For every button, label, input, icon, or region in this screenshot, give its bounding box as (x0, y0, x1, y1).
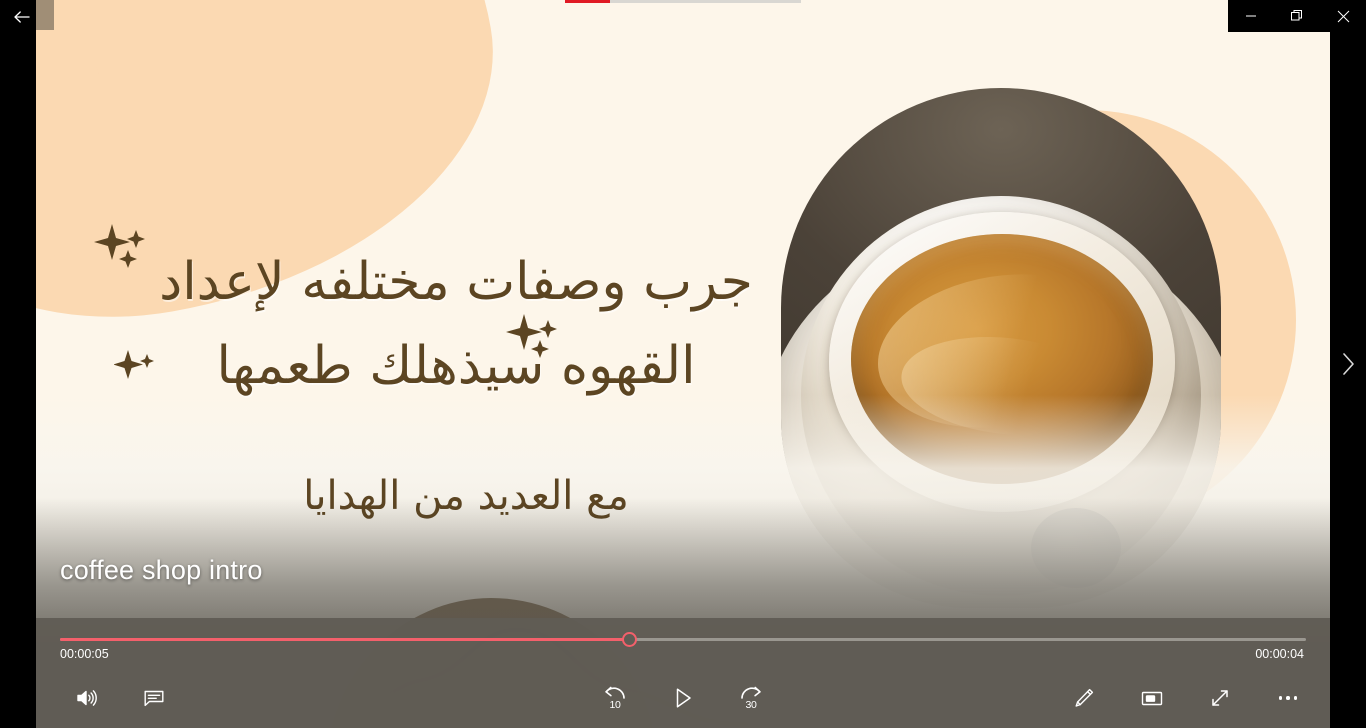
video-surface[interactable]: جرب وصفات مختلفه لإعداد القهوه سيذهلك طع… (36, 0, 1330, 728)
embedded-slide-progress-fill (565, 0, 610, 3)
video-player-window: جرب وصفات مختلفه لإعداد القهوه سيذهلك طع… (0, 0, 1366, 728)
slide-headline: جرب وصفات مختلفه لإعداد القهوه سيذهلك طع… (96, 240, 816, 408)
close-icon[interactable] (1320, 0, 1366, 32)
mini-player-icon[interactable] (1132, 678, 1172, 718)
more-options-icon[interactable] (1268, 678, 1308, 718)
left-rail (0, 0, 36, 728)
player-controls-bar: 00:00:05 00:00:04 (36, 618, 1330, 728)
controls-left-group (66, 670, 174, 726)
slide-subline: مع العديد من الهدايا (156, 470, 776, 522)
fullscreen-icon[interactable] (1200, 678, 1240, 718)
elapsed-time: 00:00:05 (60, 647, 109, 661)
forward-30-button[interactable]: 30 (731, 678, 771, 718)
rewind-10-button[interactable]: 10 (595, 678, 635, 718)
controls-row: 10 30 (36, 670, 1330, 726)
seek-bar[interactable] (60, 632, 1306, 646)
edit-pencil-icon[interactable] (1064, 678, 1104, 718)
restore-icon[interactable] (1274, 0, 1320, 32)
controls-center-group: 10 30 (595, 670, 771, 726)
forward-30-label: 30 (745, 699, 756, 711)
minimize-icon[interactable] (1228, 0, 1274, 32)
video-title: coffee shop intro (60, 555, 263, 586)
volume-icon[interactable] (66, 678, 106, 718)
right-rail (1330, 0, 1366, 728)
remaining-time: 00:00:04 (1255, 647, 1304, 661)
play-button[interactable] (663, 678, 703, 718)
seek-progress-fill (60, 638, 629, 641)
rewind-10-label: 10 (609, 699, 620, 711)
controls-right-group (1064, 670, 1308, 726)
window-title-bar (1228, 0, 1366, 32)
brown-chip-shape (36, 0, 54, 30)
seek-handle[interactable] (622, 632, 637, 647)
next-chevron-icon[interactable] (1330, 340, 1366, 388)
embedded-slide-progress (565, 0, 801, 3)
closed-captions-icon[interactable] (134, 678, 174, 718)
back-icon[interactable] (8, 4, 36, 30)
more-dots (1279, 696, 1298, 700)
